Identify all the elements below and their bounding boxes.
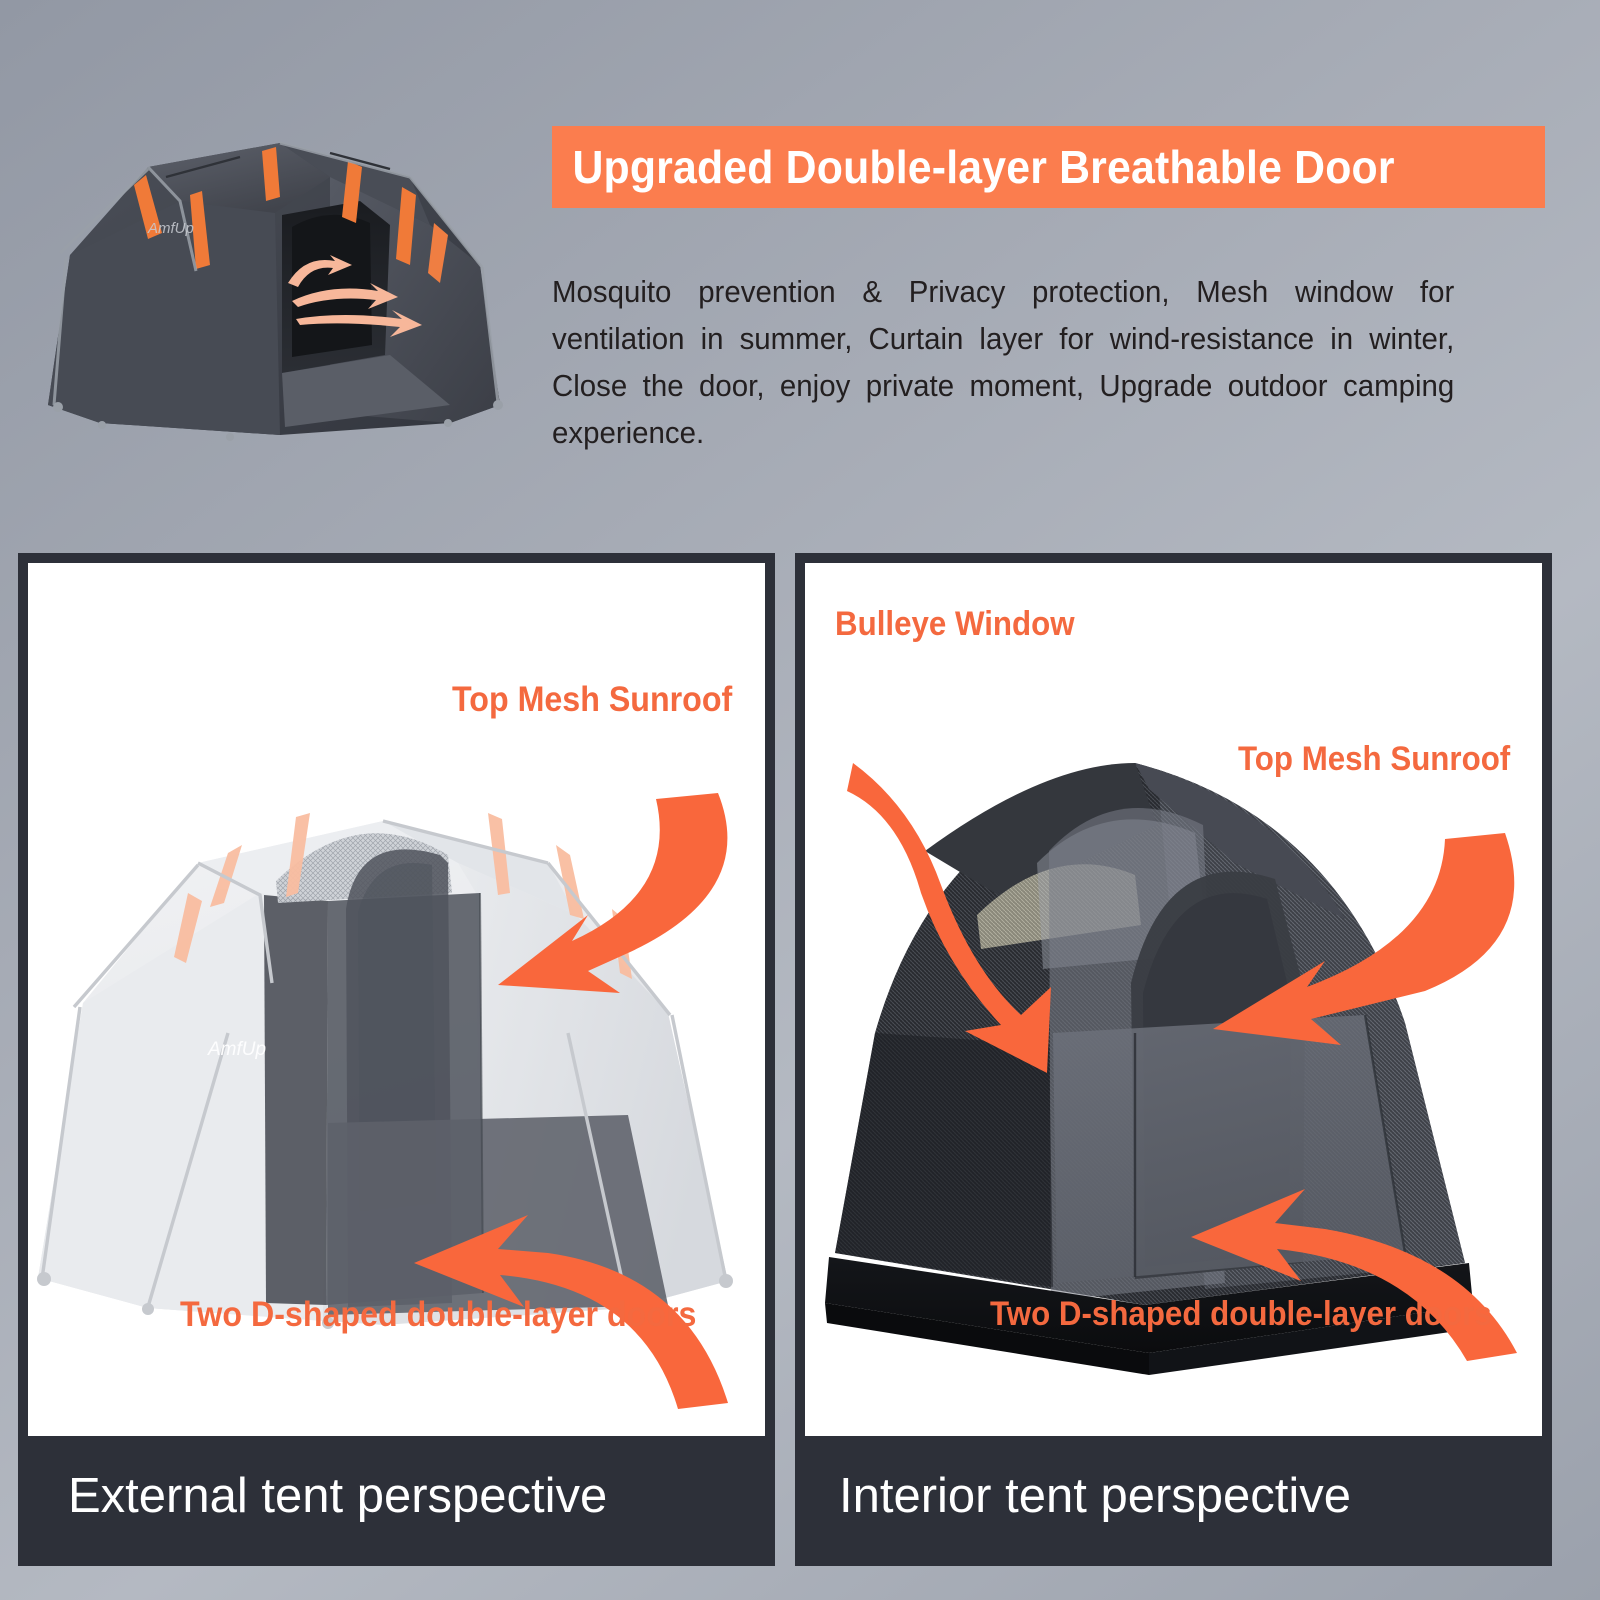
panel-interior-tent: Interior tent perspective <box>795 553 1552 1566</box>
description-text: Mosquito prevention & Privacy protection… <box>552 269 1454 457</box>
label-two-d-shaped-doors-external: Two D-shaped double-layer doors <box>180 1295 696 1335</box>
label-bulleye-window: Bulleye Window <box>835 605 1075 644</box>
caption-external-label: External tent perspective <box>28 1468 607 1524</box>
hero-product-photo: AmfUp <box>30 105 520 465</box>
svg-text:AmfUp: AmfUp <box>207 1039 266 1060</box>
caption-interior: Interior tent perspective <box>805 1436 1542 1556</box>
svg-text:AmfUp: AmfUp <box>147 220 194 237</box>
label-top-mesh-sunroof-interior: Top Mesh Sunroof <box>1238 740 1510 779</box>
page-title: Upgraded Double-layer Breathable Door <box>552 140 1395 194</box>
headline-banner: Upgraded Double-layer Breathable Door <box>552 126 1545 208</box>
caption-interior-label: Interior tent perspective <box>805 1468 1351 1524</box>
caption-external: External tent perspective <box>28 1436 765 1556</box>
label-top-mesh-sunroof-external: Top Mesh Sunroof <box>452 680 732 720</box>
label-two-d-shaped-doors-interior: Two D-shaped double-layer doors <box>990 1295 1492 1334</box>
header-section: AmfUp Upgraded Double-layer Breathable D… <box>0 0 1600 520</box>
